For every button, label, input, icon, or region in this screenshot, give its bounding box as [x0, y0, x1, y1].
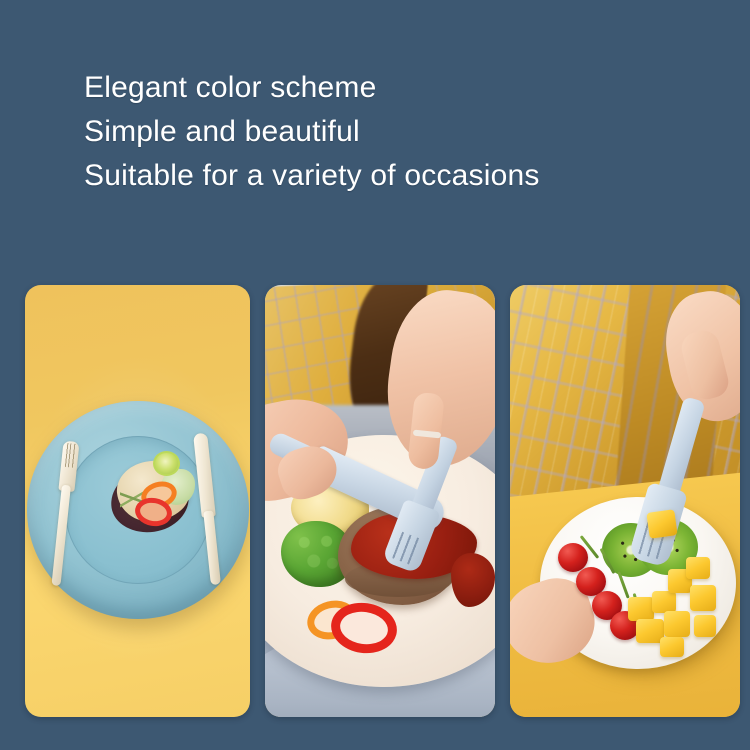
gallery-photo-3 — [510, 285, 740, 717]
mango-cube-9 — [694, 615, 716, 637]
mango-cube-7 — [686, 557, 710, 579]
fork-tines — [63, 443, 77, 468]
headline-line-3: Suitable for a variety of occasions — [84, 154, 684, 198]
lime-slice — [153, 451, 180, 476]
mango-cube-6 — [690, 585, 716, 611]
photo-gallery — [0, 285, 750, 717]
mango-cube-1 — [628, 597, 654, 621]
gallery-photo-1 — [25, 285, 250, 717]
headline-line-2: Simple and beautiful — [84, 110, 684, 154]
mango-cube-2 — [652, 591, 676, 613]
panel-1-scene — [25, 285, 250, 717]
promo-banner: Elegant color scheme Simple and beautifu… — [0, 0, 750, 750]
mango-cube-4 — [664, 611, 690, 637]
panel-2-scene — [265, 285, 495, 717]
headline-line-1: Elegant color scheme — [84, 66, 684, 110]
headline-block: Elegant color scheme Simple and beautifu… — [84, 66, 684, 198]
mango-cube-on-fork — [646, 509, 677, 539]
gallery-photo-2 — [265, 285, 495, 717]
panel-3-scene — [510, 285, 740, 717]
mango-cube-8 — [660, 637, 684, 657]
